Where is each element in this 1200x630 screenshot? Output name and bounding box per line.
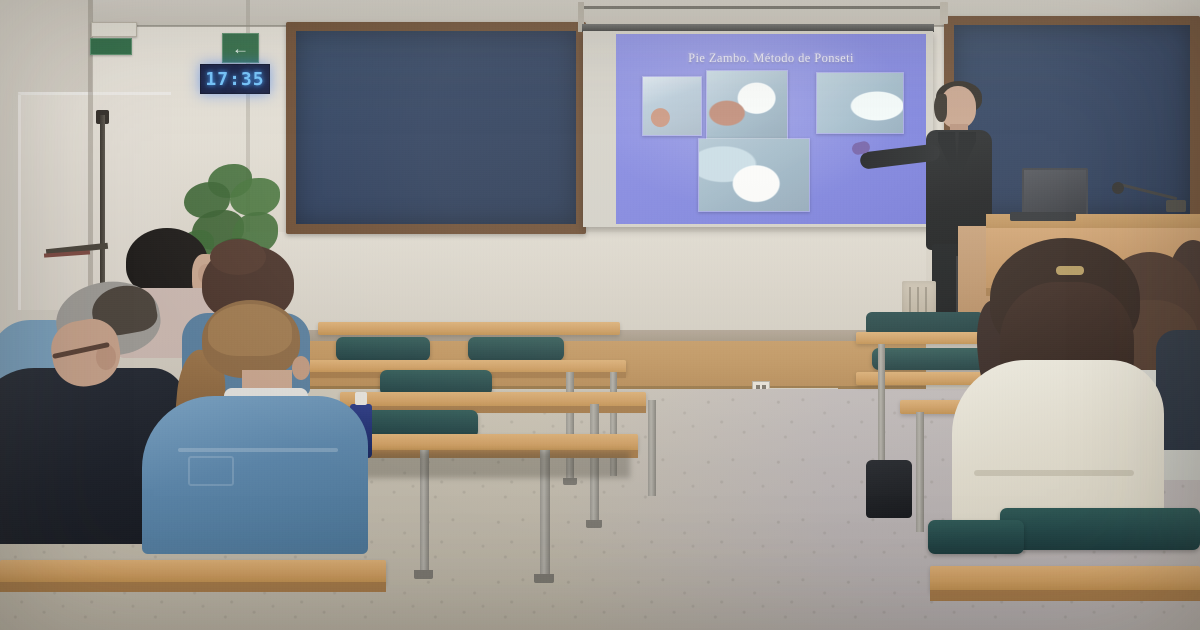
bench-seat-front-right — [1000, 508, 1200, 550]
desk-foot — [586, 520, 602, 528]
bench-seat — [468, 337, 564, 361]
slide-thumbnail-1 — [642, 76, 702, 136]
wall-plate-sign — [91, 22, 137, 37]
student-hair-bun — [210, 239, 266, 275]
presenter-hair-side — [934, 94, 947, 122]
exit-sign-arrow-icon: ← — [222, 33, 259, 63]
desk-leg — [878, 344, 885, 464]
student-torso — [142, 396, 368, 554]
desk-leg — [916, 412, 924, 532]
jacket-pocket — [188, 456, 234, 486]
desk-foot — [414, 570, 433, 579]
led-wall-clock: 17:35 — [200, 64, 270, 94]
left-arrow-icon: ← — [223, 34, 258, 62]
chalkboard-left — [286, 22, 586, 234]
desk-edge — [0, 582, 386, 592]
slide-thumbnail-2 — [706, 70, 788, 140]
microphone-base — [1166, 200, 1186, 212]
hair-clip — [1056, 266, 1084, 275]
microphone-head — [1112, 182, 1124, 194]
bench-seat-front-right-2 — [928, 520, 1024, 554]
screen-rail — [582, 6, 942, 9]
monitor — [1022, 168, 1088, 218]
desk-foot — [563, 478, 577, 485]
screen-mount-right — [940, 2, 948, 24]
slide-thumbnail-4 — [698, 138, 810, 212]
slide-title: Pie Zambo. Método de Ponseti — [616, 51, 926, 66]
jacket-seam — [178, 448, 338, 452]
student-hair-top — [208, 304, 292, 356]
bag — [866, 460, 912, 518]
desk-leg — [648, 400, 656, 496]
lecture-hall-photo: ← 17:35 Pie Zambo. Método de Ponseti — [0, 0, 1200, 630]
shirt-fold — [974, 470, 1134, 476]
desk-shadow — [330, 452, 630, 478]
student-ear — [292, 356, 310, 380]
desk-top — [930, 566, 1200, 592]
desk-top — [0, 560, 386, 584]
desk-foot — [534, 574, 554, 583]
keyboard — [1010, 212, 1076, 221]
exit-sign-small — [90, 38, 132, 55]
clock-time-display: 17:35 — [205, 69, 264, 90]
desk-edge — [930, 590, 1200, 601]
student-denim-jacket — [146, 300, 366, 550]
wall-pole — [100, 115, 105, 290]
